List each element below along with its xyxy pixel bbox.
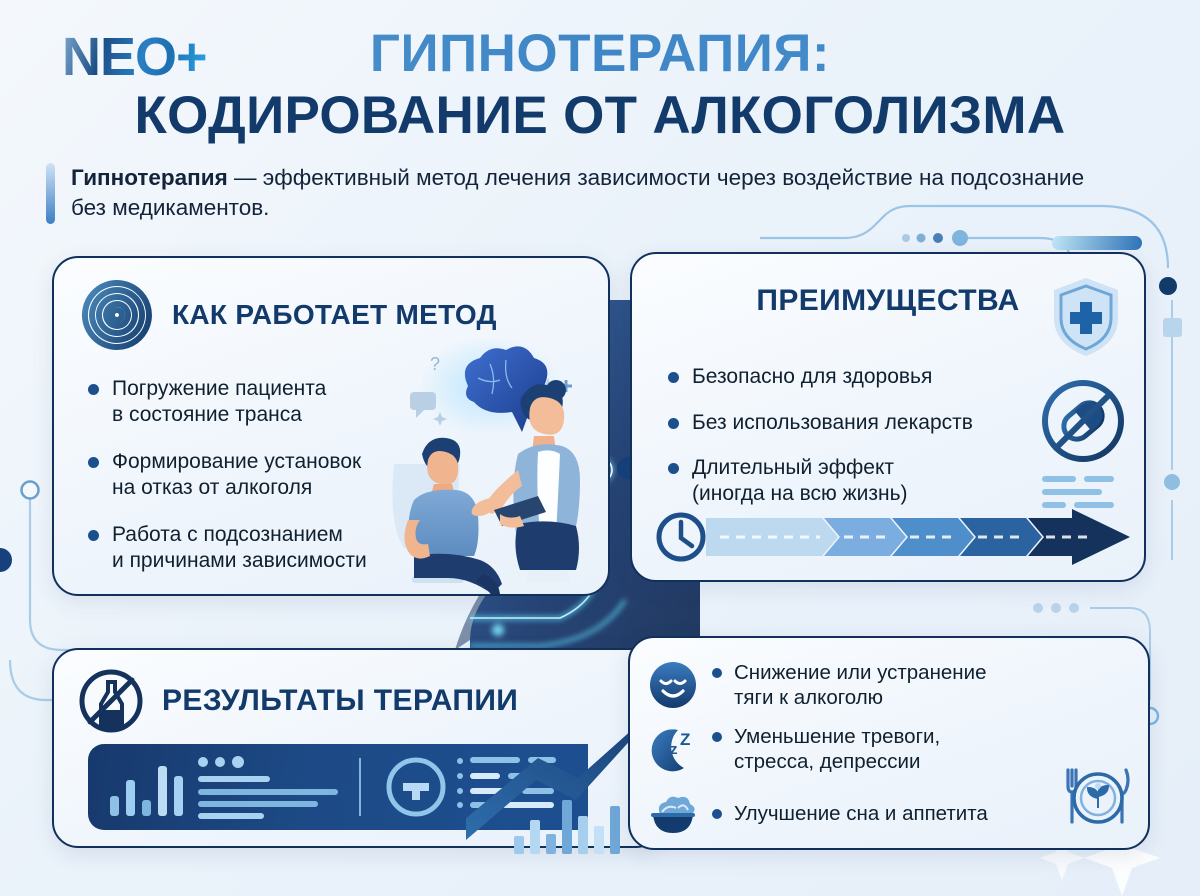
dot-small: [917, 234, 926, 243]
ring-node: [22, 482, 39, 499]
mini-bar-chart-icon: [512, 792, 630, 854]
healthy-meal-icon: [1062, 762, 1134, 834]
outcome-text: Уменьшение тревоги, стресса, депрессии: [712, 724, 940, 774]
list-item: Длительный эффект (иногда на всю жизнь): [666, 455, 996, 506]
svg-text:Z: Z: [680, 730, 690, 749]
results-header: РЕЗУЛЬТАТЫ ТЕРАПИИ: [78, 668, 518, 734]
shield-plus-icon: [1048, 274, 1124, 360]
list-item: Безопасно для здоровья: [666, 364, 996, 390]
calm-face-icon: [648, 660, 698, 710]
dot-small: [902, 234, 910, 242]
card-method: КАК РАБОТАЕТ МЕТОД Погружение пациента в…: [52, 256, 610, 596]
brand-logo[interactable]: NEO+: [62, 30, 207, 84]
title-line-2: КОДИРОВАНИЕ ОТ АЛКОГОЛИЗМА: [0, 86, 1200, 147]
square-node: [1163, 318, 1182, 337]
lede-accent-bar: [46, 163, 55, 224]
outcome-text: Снижение или устранение тяги к алкоголю: [712, 660, 986, 710]
dot-medium: [933, 233, 943, 243]
no-pills-icon: [1040, 378, 1126, 464]
infographic-root: NEO+ ГИПНОТЕРАПИЯ: КОДИРОВАНИЕ ОТ АЛКОГО…: [0, 0, 1200, 896]
card-advantages: ПРЕИМУЩЕСТВА Безопасно для здоровья Без …: [630, 252, 1146, 582]
method-title: КАК РАБОТАЕТ МЕТОД: [172, 299, 497, 330]
no-alcohol-icon: [78, 668, 144, 734]
text-lines-icon: [198, 756, 338, 819]
lede-block: Гипнотерапия — эффективный метод лечения…: [46, 163, 1116, 224]
dot-large: [952, 230, 968, 246]
advantages-bullet-list: Безопасно для здоровья Без использования…: [666, 364, 996, 506]
lede-text: Гипнотерапия — эффективный метод лечения…: [71, 163, 1116, 224]
plus-circle-icon: [389, 760, 443, 814]
bar-chart-icon: [110, 766, 183, 816]
card-outcomes: Снижение или устранение тяги к алкоголю …: [628, 636, 1150, 850]
salad-bowl-icon: [648, 788, 698, 838]
results-title: РЕЗУЛЬТАТЫ ТЕРАПИИ: [162, 684, 518, 718]
list-item: Снижение или устранение тяги к алкоголю: [648, 660, 988, 710]
progress-arrow-icon: [654, 508, 1132, 566]
hypnosis-spiral-icon: [80, 278, 154, 352]
lede-bold: Гипнотерапия: [71, 165, 228, 190]
moon-sleep-icon: z Z: [648, 724, 698, 774]
text-lines-icon: [1042, 476, 1122, 510]
list-item: Без использования лекарств: [666, 410, 996, 436]
outcome-text: Улучшение сна и аппетита: [712, 801, 988, 826]
svg-text:?: ?: [430, 354, 440, 374]
therapy-session-illustration: ?: [378, 334, 608, 594]
list-item: Улучшение сна и аппетита: [648, 788, 988, 838]
svg-text:z: z: [670, 741, 678, 758]
list-item: z Z Уменьшение тревоги, стресса, депресс…: [648, 724, 988, 774]
outcomes-rows: Снижение или устранение тяги к алкоголю …: [648, 660, 988, 838]
